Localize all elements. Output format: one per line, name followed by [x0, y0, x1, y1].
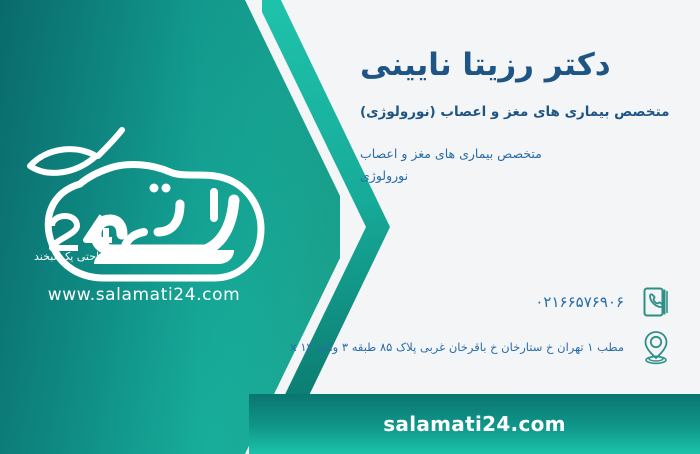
map-pin-body — [646, 332, 667, 358]
logo-group: براحتی یک لبخند www.salamati24.com — [18, 122, 270, 307]
logo-script-mim — [158, 204, 180, 232]
logo-dot-1 — [162, 184, 171, 193]
specialty-line-1: متخصص بیماری های مغز و اعصاب — [360, 143, 672, 165]
contact-row-phone[interactable]: ۰۲۱۶۶۵۷۶۹۰۶ — [535, 281, 676, 323]
content-column: دکتر رزیتا نایینی متخصص بیماری های مغز و… — [340, 0, 700, 454]
phone-book-icon — [636, 281, 676, 323]
map-pin-hole — [651, 337, 661, 347]
stem-icon — [98, 130, 122, 156]
map-pin-icon — [636, 327, 676, 369]
doctor-name: دکتر رزیتا نایینی — [360, 48, 672, 84]
phone-number: ۰۲۱۶۶۵۷۶۹۰۶ — [535, 291, 624, 314]
specialty-line-2: نورولوژی — [360, 165, 672, 187]
footer-bar: salamati24.com — [249, 394, 700, 454]
contact-row-address[interactable]: مطب ۱ تهران خ ستارخان خ باقرخان غربی پلا… — [324, 327, 676, 369]
logo-dot-2 — [150, 184, 159, 193]
business-card: براحتی یک لبخند www.salamati24.com دکتر … — [0, 0, 700, 454]
logo-url[interactable]: www.salamati24.com — [18, 285, 270, 305]
doctor-specialty-main: متخصص بیماری های مغز و اعصاب (نورولوژی) — [360, 104, 672, 122]
phone-handset-glyph — [650, 294, 663, 307]
footer-site-url[interactable]: salamati24.com — [383, 412, 566, 436]
doctor-specialty-detail: متخصص بیماری های مغز و اعصاب نورولوژی — [360, 143, 672, 187]
leaf-icon — [30, 149, 96, 173]
clinic-address: مطب ۱ تهران خ ستارخان خ باقرخان غربی پلا… — [324, 339, 624, 356]
logo-digit-2 — [52, 216, 78, 248]
logo-tagline: براحتی یک لبخند — [34, 250, 270, 263]
